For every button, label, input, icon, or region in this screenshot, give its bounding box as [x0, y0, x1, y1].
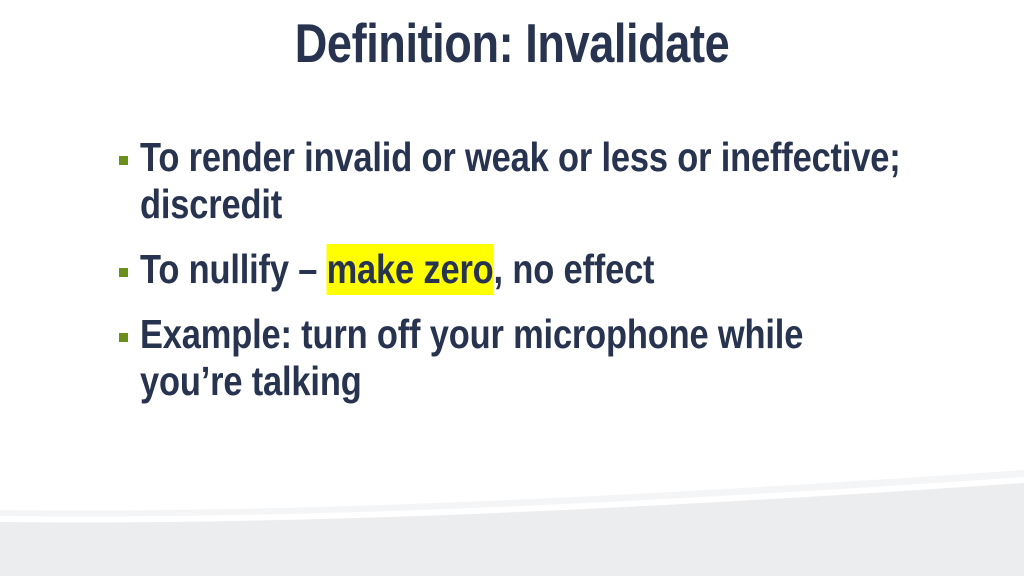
bottom-swoosh-decoration: [0, 466, 1024, 576]
bullet-3-segment-1: Example: turn off your microphone while …: [140, 311, 803, 404]
slide-canvas: Definition: Invalidate To render invalid…: [0, 0, 1024, 576]
square-bullet-icon: [119, 156, 128, 165]
list-item: To nullify – make zero, no effect: [112, 246, 912, 293]
swoosh-band-lower: [0, 483, 1024, 576]
square-bullet-icon: [119, 268, 128, 277]
list-item: Example: turn off your microphone while …: [112, 311, 912, 405]
swoosh-band-upper: [0, 470, 1024, 576]
swoosh-separator: [0, 477, 1024, 522]
bullet-2-segment-1: To nullify –: [140, 246, 327, 292]
list-item: To render invalid or weak or less or ine…: [112, 134, 912, 228]
highlighted-phrase: make zero: [327, 244, 494, 295]
bullet-text-2: To nullify – make zero, no effect: [140, 246, 912, 293]
bullet-text-3: Example: turn off your microphone while …: [140, 311, 912, 405]
page-title: Definition: Invalidate: [92, 12, 932, 74]
bullet-text-1: To render invalid or weak or less or ine…: [140, 134, 912, 228]
square-bullet-icon: [119, 333, 128, 342]
bullet-1-segment-1: To render invalid or weak or less or ine…: [140, 134, 901, 227]
bullet-list: To render invalid or weak or less or ine…: [112, 134, 912, 423]
bullet-2-segment-3: , no effect: [494, 246, 655, 292]
